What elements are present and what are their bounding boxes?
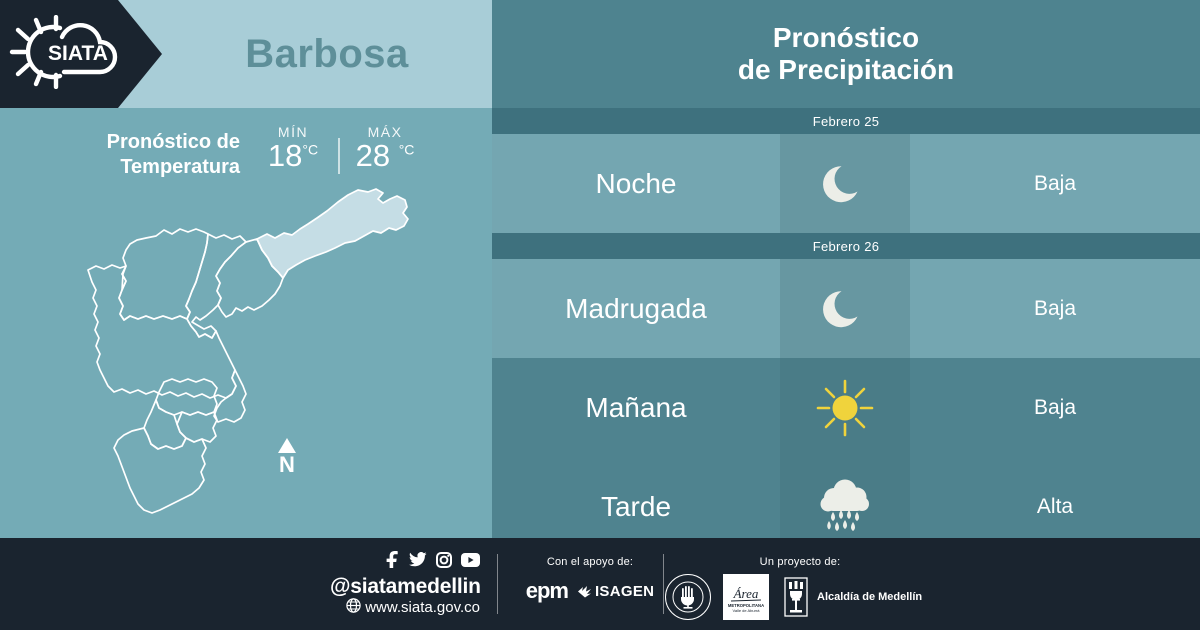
alcaldia-label: Alcaldía de Medellín bbox=[817, 591, 922, 603]
facebook-icon[interactable] bbox=[385, 551, 400, 573]
amva-wordmark: Área bbox=[733, 586, 759, 601]
forecast-period: Noche bbox=[492, 134, 780, 233]
forecast-row: Madrugada Baja bbox=[492, 259, 1200, 358]
date-band-feb25: Febrero 25 bbox=[492, 108, 1200, 134]
moon-icon bbox=[780, 134, 910, 233]
area-metropolitana-logo: Área METROPOLITANA Valle de Aburrá bbox=[723, 574, 769, 620]
min-unit: °C bbox=[302, 142, 318, 158]
svg-text:Valle de Aburrá: Valle de Aburrá bbox=[732, 608, 760, 613]
weather-forecast-infographic: SIATA Barbosa Pronóstico de Temperatura … bbox=[0, 0, 1200, 630]
support-logos: epm ISAGEN bbox=[515, 578, 665, 604]
footer: @siatamedellin www.siata.gov.co Con el a… bbox=[0, 538, 1200, 630]
map-region-bello bbox=[119, 229, 208, 320]
map-region-sabaneta bbox=[177, 412, 217, 442]
support-block: Con el apoyo de: epm ISAGEN bbox=[515, 556, 665, 604]
website-line[interactable]: www.siata.gov.co bbox=[330, 598, 480, 617]
project-logos: Área METROPOLITANA Valle de Aburrá bbox=[665, 574, 922, 620]
page-title: Barbosa bbox=[162, 0, 492, 108]
date-band-feb26: Febrero 26 bbox=[492, 233, 1200, 259]
globe-icon bbox=[346, 598, 361, 617]
temperature-title-line1: Pronóstico de bbox=[107, 131, 240, 153]
temperature-max-label: MÁX bbox=[350, 124, 420, 140]
temperature-max: MÁX 28 °C bbox=[350, 124, 420, 174]
compass-label: N bbox=[278, 454, 296, 476]
temperature-block: Pronóstico de Temperatura MÍN 18°C MÁX 2… bbox=[62, 122, 442, 192]
website-url[interactable]: www.siata.gov.co bbox=[365, 599, 480, 616]
epm-logo: epm bbox=[526, 578, 568, 604]
project-caption: Un proyecto de: bbox=[700, 556, 900, 568]
youtube-icon[interactable] bbox=[461, 553, 480, 572]
map-region-medellin bbox=[88, 265, 236, 398]
precipitation-title-line2: de Precipitación bbox=[738, 54, 954, 86]
forecast-row: Noche Baja bbox=[492, 134, 1200, 233]
alcaldia-de-medellin-logo: Alcaldía de Medellín bbox=[781, 576, 922, 618]
twitter-icon[interactable] bbox=[409, 552, 427, 572]
isagen-logo: ISAGEN bbox=[578, 583, 654, 600]
siata-logo-chevron: SIATA bbox=[0, 0, 162, 108]
temperature-min-value: 18°C bbox=[258, 138, 328, 174]
max-unit: °C bbox=[399, 142, 415, 158]
min-number: 18 bbox=[268, 138, 302, 173]
map-region-barbosa bbox=[257, 189, 408, 278]
forecast-level: Baja bbox=[910, 134, 1200, 233]
left-panel: SIATA Barbosa Pronóstico de Temperatura … bbox=[0, 0, 492, 538]
alcaldia-crest-icon bbox=[781, 576, 811, 618]
map-region-caldas bbox=[114, 428, 206, 513]
sun-icon bbox=[780, 358, 910, 457]
temperature-max-value: 28 °C bbox=[350, 138, 420, 174]
forecast-level: Baja bbox=[910, 358, 1200, 457]
aburra-valley-map bbox=[56, 186, 446, 531]
footer-divider-1 bbox=[497, 554, 498, 614]
compass-needle-icon bbox=[278, 438, 296, 453]
moon-icon bbox=[780, 259, 910, 358]
support-caption: Con el apoyo de: bbox=[515, 556, 665, 568]
footer-divider-2 bbox=[663, 554, 664, 614]
forecast-period: Madrugada bbox=[492, 259, 780, 358]
temperature-min-label: MÍN bbox=[258, 124, 328, 140]
siata-logo-text: SIATA bbox=[48, 42, 108, 65]
map-panel: Pronóstico de Temperatura MÍN 18°C MÁX 2… bbox=[0, 108, 492, 538]
forecast-row: Mañana Baja bbox=[492, 358, 1200, 457]
precipitation-panel: Pronóstico de Precipitación Febrero 25 N… bbox=[492, 0, 1200, 538]
max-number: 28 bbox=[356, 138, 390, 173]
social-handle[interactable]: @siatamedellin bbox=[330, 575, 480, 598]
precipitation-title-line1: Pronóstico bbox=[773, 22, 919, 54]
forecast-level: Baja bbox=[910, 259, 1200, 358]
precipitation-title: Pronóstico de Precipitación bbox=[492, 0, 1200, 108]
siata-logo-icon: SIATA bbox=[8, 15, 128, 94]
compass-rose: N bbox=[278, 438, 296, 476]
social-icons bbox=[330, 551, 480, 573]
forecast-period: Mañana bbox=[492, 358, 780, 457]
instagram-icon[interactable] bbox=[436, 552, 452, 573]
header-band: SIATA Barbosa bbox=[0, 0, 492, 108]
isagen-text: ISAGEN bbox=[595, 583, 654, 600]
temperature-title-line2: Temperatura bbox=[120, 156, 240, 178]
unal-seal-icon bbox=[665, 574, 711, 620]
social-block: @siatamedellin www.siata.gov.co bbox=[330, 551, 480, 617]
temperature-divider bbox=[338, 138, 340, 174]
isagen-mark-icon bbox=[578, 585, 592, 598]
temperature-values: MÍN 18°C MÁX 28 °C bbox=[258, 122, 420, 174]
temperature-title: Pronóstico de Temperatura bbox=[62, 122, 240, 180]
temperature-min: MÍN 18°C bbox=[258, 124, 328, 174]
